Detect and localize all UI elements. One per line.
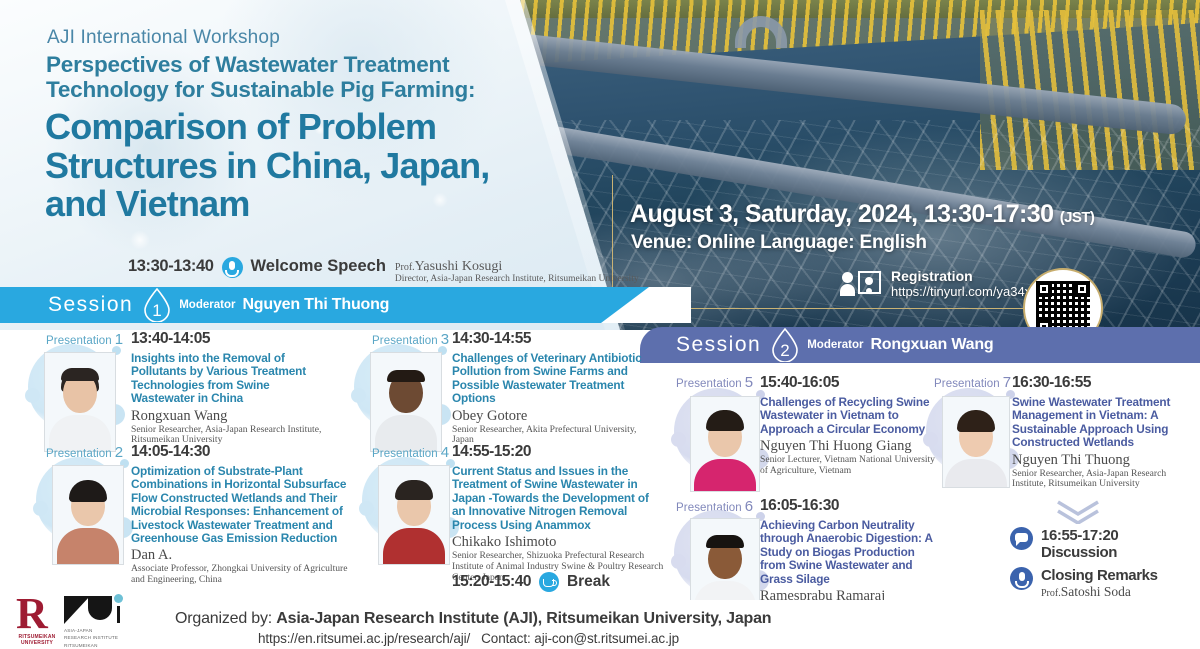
closing-speaker: Prof.Satoshi Soda bbox=[1041, 584, 1181, 601]
aji-logo-mark bbox=[64, 594, 122, 626]
presentation-7-time: 16:30-16:55 bbox=[1012, 374, 1192, 392]
presentation-7-number: 7 bbox=[1003, 374, 1011, 391]
presentation-7-body: 16:30-16:55 Swine Wastewater Treatment M… bbox=[1012, 374, 1192, 490]
presentation-1-photo bbox=[44, 352, 116, 452]
aji-logo-caption-1: ASIA-JAPAN bbox=[64, 628, 126, 633]
session-2-heading: Session 2 Moderator Rongxuan Wang bbox=[676, 327, 993, 363]
website-url[interactable]: https://en.ritsumei.ac.jp/research/aji/ bbox=[258, 631, 470, 646]
presentation-7-affiliation: Senior Researcher, Asia-Japan Research I… bbox=[1012, 469, 1192, 491]
presentation-2-time: 14:05-14:30 bbox=[131, 443, 349, 461]
ritsumeikan-logo-caption-2: UNIVERSITY bbox=[16, 640, 58, 646]
presentation-5-affiliation: Senior Lecturer, Vietnam National Univer… bbox=[760, 455, 940, 477]
closing-remarks-label: Closing Remarks bbox=[1041, 567, 1181, 584]
speech-bubble-icon bbox=[1010, 527, 1033, 550]
session-1-moderator-label: Moderator bbox=[179, 299, 235, 311]
session-1-bar: Session 1 Moderator Nguyen Thi Thuong bbox=[0, 287, 690, 323]
presentation-7-photo bbox=[942, 396, 1010, 488]
break-row: 15:20-15:40 Break bbox=[452, 572, 610, 592]
workshop-poster: AJI International Workshop Perspectives … bbox=[0, 0, 1200, 649]
presentation-6-time: 16:05-16:30 bbox=[760, 497, 938, 515]
session-1-word: Session bbox=[48, 293, 133, 317]
presentation-6-title: Achieving Carbon Neutrality through Anae… bbox=[760, 519, 938, 586]
session-2-word: Session bbox=[676, 333, 761, 357]
welcome-speech-row: 13:30-13:40 Welcome Speech Prof.Yasushi … bbox=[128, 257, 639, 284]
presentation-6-photo bbox=[690, 518, 760, 610]
presentation-3-photo bbox=[370, 352, 442, 452]
svg-text:1: 1 bbox=[152, 301, 161, 320]
presentation-6-number: 6 bbox=[745, 498, 753, 515]
presentation-3-body: 14:30-14:55 Challenges of Veterinary Ant… bbox=[452, 330, 652, 446]
session-2-moderator-name: Rongxuan Wang bbox=[870, 336, 993, 354]
title-line-3: and Vietnam bbox=[45, 183, 250, 224]
discussion-text: 16:55-17:20 Discussion bbox=[1041, 527, 1118, 561]
presentation-5-time: 15:40-16:05 bbox=[760, 374, 940, 392]
session-2-number-drop: 2 bbox=[771, 328, 799, 362]
session-1-moderator-name: Nguyen Thi Thuong bbox=[242, 296, 389, 314]
presentation-3-time: 14:30-14:55 bbox=[452, 330, 652, 348]
presentation-4-photo bbox=[378, 465, 450, 565]
closing-speaker-name: Satoshi Soda bbox=[1061, 584, 1131, 599]
event-venue-language: Venue: Online Language: English bbox=[631, 232, 927, 254]
coffee-cup-icon bbox=[539, 572, 559, 592]
ritsumeikan-logo: R RITSUMEIKAN UNIVERSITY bbox=[16, 594, 58, 644]
discussion-time: 16:55-17:20 bbox=[1041, 527, 1118, 544]
welcome-time: 13:30-13:40 bbox=[128, 257, 214, 276]
presentation-4-title: Current Status and Issues in the Treatme… bbox=[452, 465, 664, 532]
aji-logo: ASIA-JAPAN RESEARCH INSTITUTE RITSUMEIKA… bbox=[64, 594, 126, 644]
page-title: Comparison of Problem Structures in Chin… bbox=[45, 108, 605, 224]
presentation-7-speaker: Nguyen Thi Thuong bbox=[1012, 452, 1192, 468]
event-date-text: August 3, Saturday, 2024, 13:30-17:30 bbox=[630, 200, 1053, 228]
presentation-5-speaker: Nguyen Thi Huong Giang bbox=[760, 438, 940, 454]
chevron-down-icon bbox=[1050, 498, 1106, 524]
presentation-1-time: 13:40-14:05 bbox=[131, 330, 331, 348]
closing-speaker-prefix: Prof. bbox=[1041, 588, 1061, 599]
presentation-5-title: Challenges of Recycling Swine Wastewater… bbox=[760, 396, 940, 436]
title-line-1: Comparison of Problem bbox=[45, 106, 436, 147]
subtitle-line-1: Perspectives of Wastewater Treatment bbox=[46, 52, 449, 77]
welcome-speaker-affiliation: Director, Asia-Japan Research Institute,… bbox=[395, 274, 639, 284]
session-1-heading: Session 1 Moderator Nguyen Thi Thuong bbox=[48, 287, 389, 323]
welcome-speaker-name: Yasushi Kosugi bbox=[415, 259, 503, 274]
presentation-1-body: 13:40-14:05 Insights into the Removal of… bbox=[131, 330, 331, 446]
presentation-4-body: 14:55-15:20 Current Status and Issues in… bbox=[452, 443, 664, 583]
presentation-4-time: 14:55-15:20 bbox=[452, 443, 664, 461]
session-1-number-drop: 1 bbox=[143, 288, 171, 322]
presentation-7-title: Swine Wastewater Treatment Management in… bbox=[1012, 396, 1192, 450]
break-label: Break bbox=[567, 573, 610, 591]
presentation-2-body: 14:05-14:30 Optimization of Substrate-Pl… bbox=[131, 443, 349, 586]
aji-logo-caption-3: RITSUMEIKAN UNIVERSITY bbox=[64, 643, 126, 649]
presentation-1-title: Insights into the Removal of Pollutants … bbox=[131, 352, 331, 406]
presentation-1-speaker: Rongxuan Wang bbox=[131, 408, 331, 424]
presentation-5-photo bbox=[690, 396, 760, 492]
workshop-kicker: AJI International Workshop bbox=[47, 27, 280, 49]
subtitle-line-2: Technology for Sustainable Pig Farming: bbox=[46, 77, 475, 102]
organized-by-line: Organized by: Asia-Japan Research Instit… bbox=[175, 610, 771, 628]
organized-by-name: Asia-Japan Research Institute (AJI), Rit… bbox=[276, 610, 771, 627]
online-meeting-icon bbox=[840, 270, 882, 298]
welcome-speaker-prefix: Prof. bbox=[395, 262, 415, 273]
presentation-3-speaker: Obey Gotore bbox=[452, 408, 652, 424]
presentation-2-affiliation: Associate Professor, Zhongkai University… bbox=[131, 564, 349, 586]
presentation-2-photo bbox=[52, 465, 124, 565]
presentation-5-number: 5 bbox=[745, 374, 753, 391]
welcome-label: Welcome Speech bbox=[251, 257, 386, 276]
contact-line: https://en.ritsumei.ac.jp/research/aji/ … bbox=[258, 631, 679, 646]
contact-email[interactable]: Contact: aji-con@st.ritsumei.ac.jp bbox=[481, 631, 679, 646]
workshop-subtitle: Perspectives of Wastewater Treatment Tec… bbox=[46, 52, 576, 102]
organized-by-prefix: Organized by: bbox=[175, 610, 276, 627]
break-time: 15:20-15:40 bbox=[452, 573, 531, 591]
presentation-2-speaker: Dan A. bbox=[131, 547, 349, 563]
registration-label: Registration bbox=[891, 268, 1053, 284]
event-timezone: (JST) bbox=[1060, 209, 1095, 226]
presentation-3-title: Challenges of Veterinary Antibiotic Poll… bbox=[452, 352, 652, 406]
presentation-4-speaker: Chikako Ishimoto bbox=[452, 534, 664, 550]
presentation-2-title: Optimization of Substrate-Plant Combinat… bbox=[131, 465, 349, 545]
welcome-speaker: Prof.Yasushi Kosugi Director, Asia-Japan… bbox=[395, 257, 639, 284]
discussion-label: Discussion bbox=[1041, 544, 1118, 561]
aji-logo-caption-2: RESEARCH INSTITUTE bbox=[64, 635, 126, 640]
session-2-bar: Session 2 Moderator Rongxuan Wang bbox=[640, 327, 1200, 363]
title-line-2: Structures in China, Japan, bbox=[45, 145, 490, 186]
session-2-moderator-label: Moderator bbox=[807, 339, 863, 351]
presentation-5-body: 15:40-16:05 Challenges of Recycling Swin… bbox=[760, 374, 940, 477]
discussion-row: 16:55-17:20 Discussion bbox=[1010, 527, 1181, 561]
event-datetime: August 3, Saturday, 2024, 13:30-17:30 (J… bbox=[630, 200, 1094, 229]
microphone-icon bbox=[1010, 567, 1033, 590]
microphone-icon bbox=[222, 257, 243, 278]
ritsumeikan-logo-letter: R bbox=[16, 594, 58, 634]
registration-block[interactable]: Registration https://tinyurl.com/ya34x54… bbox=[840, 268, 1053, 300]
svg-text:2: 2 bbox=[780, 341, 789, 360]
session-1-bar-notch bbox=[601, 287, 691, 323]
